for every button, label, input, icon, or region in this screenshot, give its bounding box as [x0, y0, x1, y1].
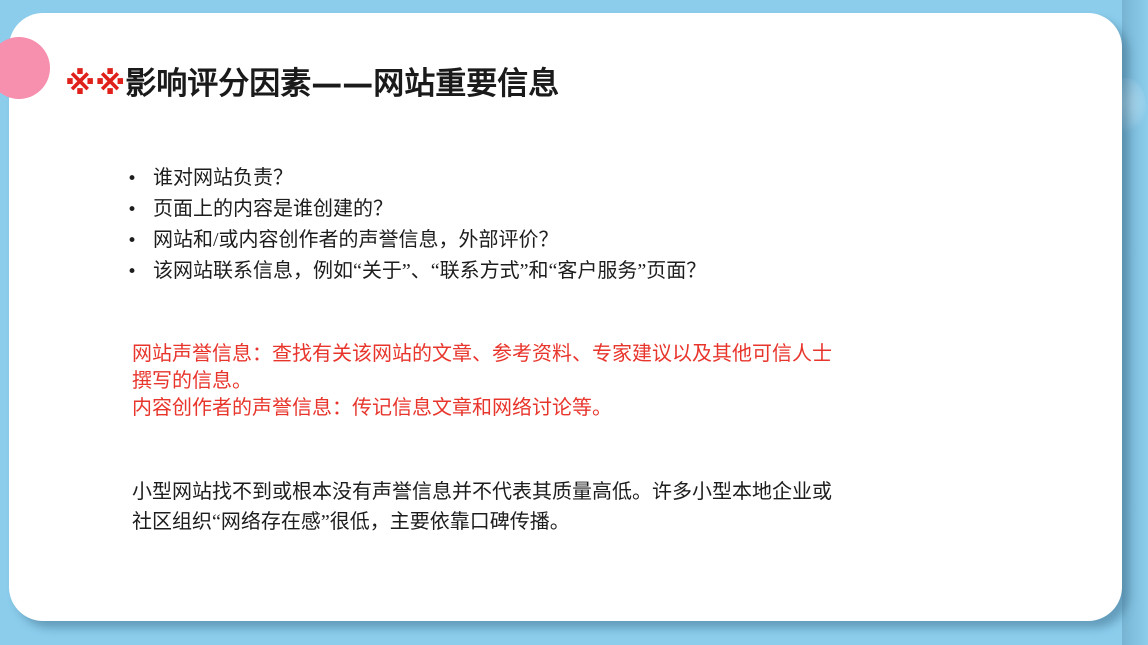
- title-mark-icon: ※※: [65, 66, 125, 102]
- bullet-dot-icon: •: [127, 257, 153, 287]
- closing-note: 小型网站找不到或根本没有声誉信息并不代表其质量高低。许多小型本地企业或 社区组织…: [132, 477, 962, 537]
- slide-content-card: ※※影响评分因素——网站重要信息 • 谁对网站负责？ • 页面上的内容是谁创建的…: [9, 13, 1122, 621]
- list-item-label: 网站和/或内容创作者的声誉信息，外部评价？: [153, 225, 559, 255]
- right-edge-shading: [1122, 0, 1148, 645]
- red-note-line: 撰写的信息。: [132, 368, 962, 395]
- list-item-label: 该网站联系信息，例如“关于”、“联系方式”和“客户服务”页面？: [153, 256, 706, 286]
- bullet-dot-icon: •: [127, 164, 153, 194]
- bullet-group-1: • 谁对网站负责？ • 页面上的内容是谁创建的？: [127, 163, 393, 225]
- closing-note-line: 社区组织“网络存在感”很低，主要依靠口碑传播。: [132, 507, 962, 537]
- list-item: • 该网站联系信息，例如“关于”、“联系方式”和“客户服务”页面？: [127, 256, 706, 287]
- list-item: • 网站和/或内容创作者的声誉信息，外部评价？: [127, 225, 706, 256]
- bullet-dot-icon: •: [127, 195, 153, 225]
- red-highlight-note: 网站声誉信息：查找有关该网站的文章、参考资料、专家建议以及其他可信人士 撰写的信…: [132, 341, 962, 422]
- page-title: ※※影响评分因素——网站重要信息: [65, 58, 559, 103]
- closing-note-line: 小型网站找不到或根本没有声誉信息并不代表其质量高低。许多小型本地企业或: [132, 477, 962, 507]
- bullet-group-2: • 网站和/或内容创作者的声誉信息，外部评价？ • 该网站联系信息，例如“关于”…: [127, 225, 706, 287]
- red-note-line: 网站声誉信息：查找有关该网站的文章、参考资料、专家建议以及其他可信人士: [132, 341, 962, 368]
- list-item-label: 页面上的内容是谁创建的？: [153, 194, 393, 224]
- page-title-text: 影响评分因素——网站重要信息: [125, 66, 559, 102]
- list-item: • 页面上的内容是谁创建的？: [127, 194, 393, 225]
- red-note-line: 内容创作者的声誉信息：传记信息文章和网络讨论等。: [132, 395, 962, 422]
- slide-canvas: ※※影响评分因素——网站重要信息 • 谁对网站负责？ • 页面上的内容是谁创建的…: [0, 0, 1148, 645]
- list-item: • 谁对网站负责？: [127, 163, 393, 194]
- list-item-label: 谁对网站负责？: [153, 163, 293, 193]
- bullet-dot-icon: •: [127, 226, 153, 256]
